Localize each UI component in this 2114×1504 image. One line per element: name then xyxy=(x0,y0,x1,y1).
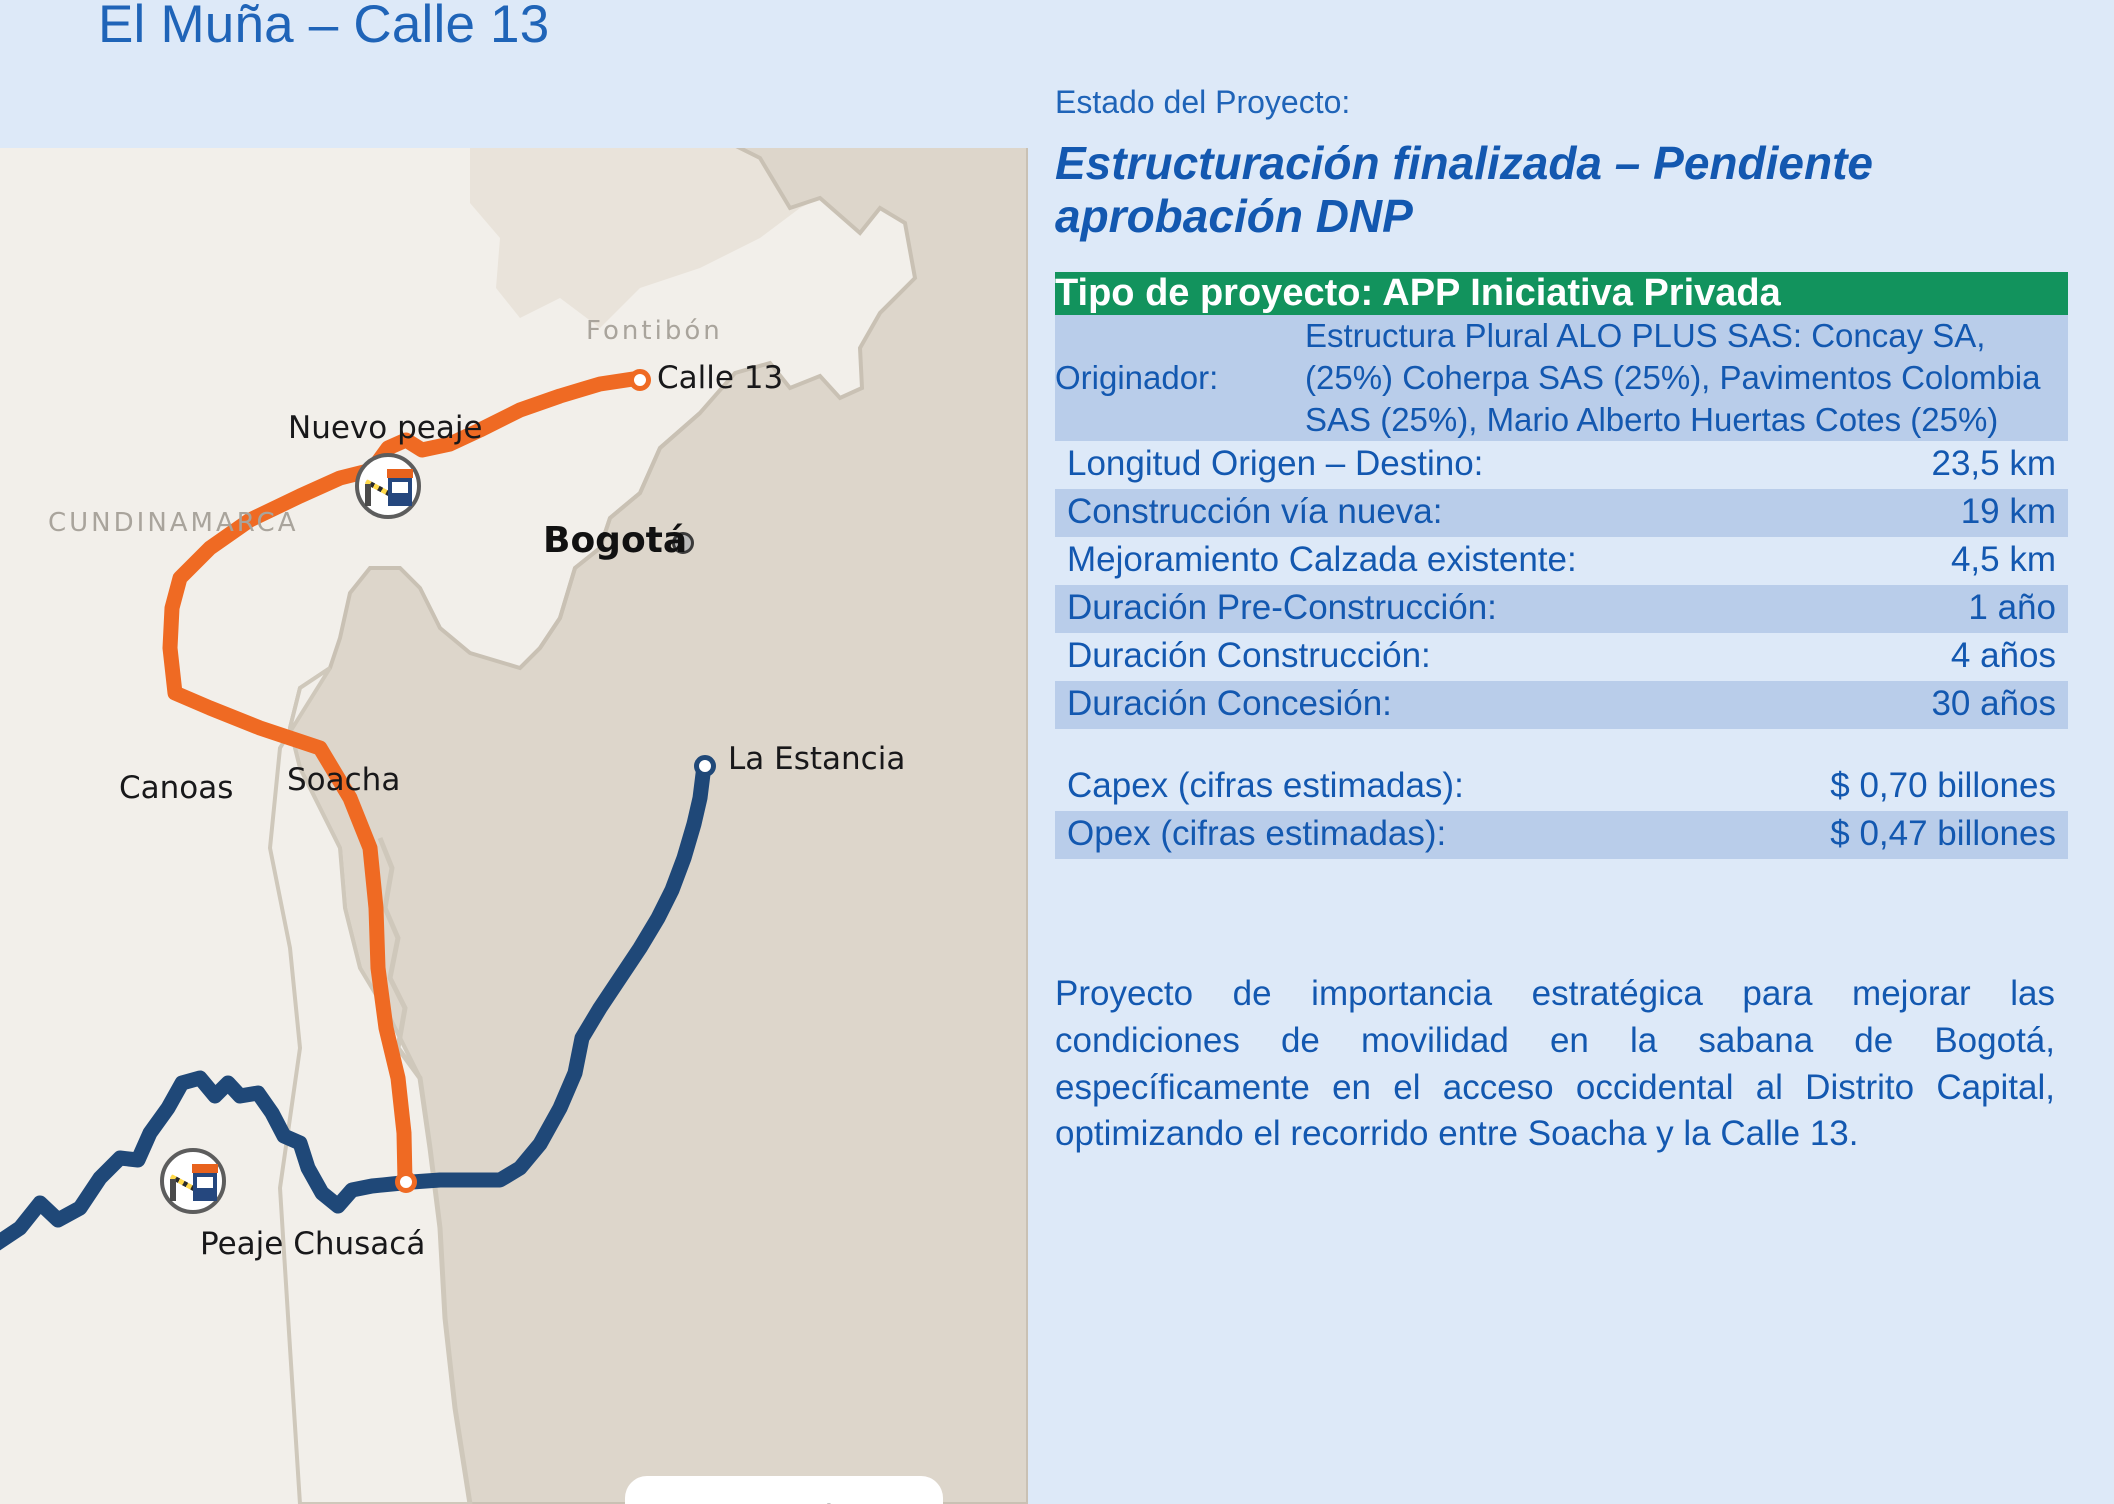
row-value: 4 años xyxy=(1951,636,2056,676)
map-legend: Concesión Tercer Carril Bogotá-Girardot … xyxy=(625,1476,943,1504)
map-node-junction[interactable] xyxy=(395,1171,417,1193)
toll-roof-icon xyxy=(192,1164,218,1173)
toll-icon-peaje-chusaca[interactable] xyxy=(160,1148,226,1214)
row-key: Duración Construcción: xyxy=(1067,636,1431,676)
spec-table: Tipo de proyecto: APP Iniciativa Privada… xyxy=(1055,272,2068,442)
row-value: 4,5 km xyxy=(1951,540,2056,580)
table-row: Construcción vía nueva: 19 km xyxy=(1055,489,2068,537)
row-value: 23,5 km xyxy=(1932,444,2057,484)
info-column: Estado del Proyecto: Estructuración fina… xyxy=(1055,0,2068,1158)
capex-value: $ 0,70 billones xyxy=(1830,766,2056,806)
table-row: Mejoramiento Calzada existente: 4,5 km xyxy=(1055,537,2068,585)
row-key: Longitud Origen – Destino: xyxy=(1067,444,1483,484)
table-row-originador: Originador: Estructura Plural ALO PLUS S… xyxy=(1055,315,2068,442)
table-header-row: Tipo de proyecto: APP Iniciativa Privada xyxy=(1055,272,2068,315)
table-row: Duración Pre-Construcción: 1 año xyxy=(1055,585,2068,633)
map-node-bogota xyxy=(672,532,694,554)
toll-icon-nuevo-peaje[interactable] xyxy=(355,453,421,519)
row-value: 19 km xyxy=(1961,492,2056,532)
table-header-label: Tipo de proyecto: APP Iniciativa Privada xyxy=(1055,272,2068,315)
row-value: 30 años xyxy=(1931,684,2056,724)
opex-value: $ 0,47 billones xyxy=(1830,814,2056,854)
row-key: Duración Pre-Construcción: xyxy=(1067,588,1497,628)
map-graphic xyxy=(0,148,1028,1504)
map-node-calle-13[interactable] xyxy=(629,369,651,391)
table-row: Duración Construcción: 4 años xyxy=(1055,633,2068,681)
summary-paragraph: Proyecto de importancia estratégica para… xyxy=(1055,971,2055,1157)
table-row: Longitud Origen – Destino: 23,5 km xyxy=(1055,441,2068,489)
capex-key: Capex (cifras estimadas): xyxy=(1067,766,1464,806)
row-key: Construcción vía nueva: xyxy=(1067,492,1442,532)
page-title: El Muña – Calle 13 xyxy=(98,0,549,55)
spec-rows: Longitud Origen – Destino: 23,5 km Const… xyxy=(1055,441,2068,729)
toll-window-icon xyxy=(391,481,409,494)
table-row-capex: Capex (cifras estimadas): $ 0,70 billone… xyxy=(1055,763,2068,811)
estado-label: Estado del Proyecto: xyxy=(1055,84,2068,121)
originador-key: Originador: xyxy=(1055,315,1305,442)
row-key: Duración Concesión: xyxy=(1067,684,1392,724)
toll-post-icon xyxy=(170,1179,176,1201)
map-node-la-estancia[interactable] xyxy=(694,755,716,777)
row-key: Mejoramiento Calzada existente: xyxy=(1067,540,1577,580)
row-value: 1 año xyxy=(1968,588,2056,628)
legend-item[interactable]: Concesión Tercer Carril Bogotá-Girardot xyxy=(651,1500,943,1504)
cost-rows: Capex (cifras estimadas): $ 0,70 billone… xyxy=(1055,763,2068,859)
toll-window-icon xyxy=(196,1176,214,1189)
toll-roof-icon xyxy=(387,469,413,478)
legend-label-concesion: Concesión Tercer Carril Bogotá-Girardot xyxy=(713,1500,943,1504)
estado-value: Estructuración finalizada – Pendiente ap… xyxy=(1055,137,2068,244)
originador-value: Estructura Plural ALO PLUS SAS: Concay S… xyxy=(1305,315,2068,442)
toll-post-icon xyxy=(365,484,371,506)
table-row-opex: Opex (cifras estimadas): $ 0,47 billones xyxy=(1055,811,2068,859)
map-panel[interactable]: Fontibón CUNDINAMARCA Calle 13 Nuevo pea… xyxy=(0,148,1028,1504)
table-row: Duración Concesión: 30 años xyxy=(1055,681,2068,729)
opex-key: Opex (cifras estimadas): xyxy=(1067,814,1446,854)
